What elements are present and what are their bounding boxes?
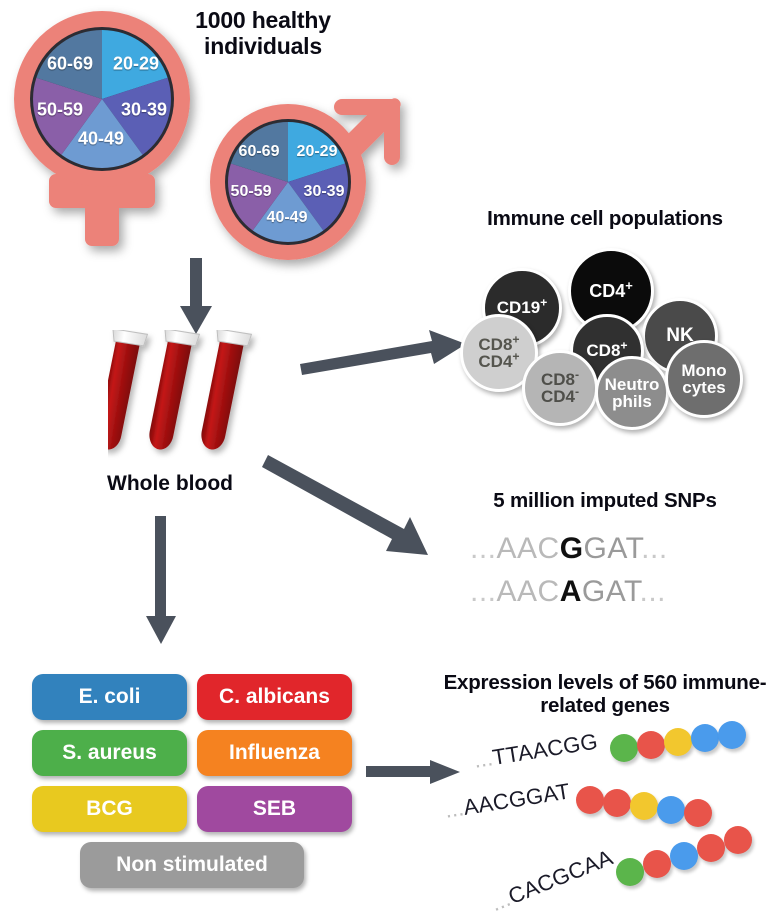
cell-label-line: CD4- <box>541 388 579 405</box>
snp-allele-g: ...AACGGAT... <box>470 528 770 571</box>
page-title-cohort: 1000 healthy individuals <box>158 8 368 60</box>
strand-3-bead <box>724 826 752 854</box>
male-age-pie <box>228 122 348 242</box>
cell-cd8-cd4-double-negative: CD8-CD4- <box>522 350 598 426</box>
strand-2-sequence: ...AACGGAT <box>443 778 572 823</box>
arrow-blood-to-snps <box>268 455 448 565</box>
strand-3-bead <box>643 850 671 878</box>
snp-segment: ... <box>470 532 497 565</box>
strand-bases: TTAACGG <box>491 729 600 770</box>
snp-segment: ... <box>641 532 668 565</box>
strand-2-bead <box>576 786 604 814</box>
strand-1-bead <box>664 728 692 756</box>
snp-segment: ... <box>640 575 667 608</box>
stim-seb[interactable]: SEB <box>197 786 352 832</box>
strand-bases: CACGCAA <box>505 845 617 909</box>
blood-tube <box>146 330 199 453</box>
snp-segment: AAC <box>497 575 560 608</box>
strand-1-bead <box>637 731 665 759</box>
arrow-blood-to-stimulation <box>143 516 179 646</box>
snp-segment: AAC <box>497 532 560 565</box>
snp-segment: A <box>560 575 582 608</box>
section-title-snps: 5 million imputed SNPs <box>440 490 770 513</box>
stim-c-albicans[interactable]: C. albicans <box>197 674 352 720</box>
strand-2-bead <box>630 792 658 820</box>
cell-label-line: phils <box>605 393 660 410</box>
strand-1-bead <box>718 721 746 749</box>
cell-label-line: CD4+ <box>478 353 519 370</box>
cell-label-line: CD8- <box>541 371 579 388</box>
strand-3-bead <box>616 858 644 886</box>
male-gender-symbol: 20-29 30-39 40-49 50-59 60-69 <box>196 72 426 272</box>
cell-neutrophils: Neutrophils <box>595 356 669 430</box>
stimulation-row: S. aureusInfluenza <box>32 730 352 776</box>
stim-bcg[interactable]: BCG <box>32 786 187 832</box>
section-title-immune-cells: Immune cell populations <box>440 208 770 231</box>
stimulation-row: Non stimulated <box>32 842 352 888</box>
snp-sequence-block: ...AACGGAT......AACAGAT... <box>470 528 770 613</box>
label-whole-blood: Whole blood <box>60 472 280 496</box>
arrow-blood-to-immune <box>300 330 468 372</box>
strand-2-bead <box>603 789 631 817</box>
strand-1-bead <box>691 724 719 752</box>
blood-tube <box>108 330 148 453</box>
stim-s-aureus[interactable]: S. aureus <box>32 730 187 776</box>
strand-1-sequence: ...TTAACGG <box>472 729 600 774</box>
strand-3-bead <box>697 834 725 862</box>
snp-allele-a: ...AACAGAT... <box>470 571 770 614</box>
strand-3-bead <box>670 842 698 870</box>
strand-2-bead <box>657 796 685 824</box>
arrow-cohort-to-blood <box>178 258 214 336</box>
stimulation-row: E. coliC. albicans <box>32 674 352 720</box>
stimulation-conditions-grid: E. coliC. albicansS. aureusInfluenzaBCGS… <box>32 674 352 898</box>
strand-1-bead <box>610 734 638 762</box>
cell-label-line: cytes <box>681 379 726 396</box>
expression-strands-block: ...TTAACGG...AACGGAT...CACGCAA <box>440 700 771 922</box>
snp-segment: G <box>560 532 584 565</box>
snp-segment: GAT <box>584 532 642 565</box>
figure-canvas: 20-29 30-39 40-49 50-59 60-69 <box>0 0 771 922</box>
immune-cell-cluster: CD19+CD4+NKCD8+CD8+CD4+CD8-CD4-Neutrophi… <box>460 238 760 418</box>
female-age-pie <box>33 30 171 168</box>
stimulation-row: BCGSEB <box>32 786 352 832</box>
stim-non-stimulated[interactable]: Non stimulated <box>80 842 304 888</box>
strand-3-sequence: ...CACGCAA <box>487 845 616 917</box>
cell-monocytes: Monocytes <box>665 340 743 418</box>
snp-segment: GAT <box>582 575 640 608</box>
cell-label-line: Mono <box>681 362 726 379</box>
strand-2-bead <box>684 799 712 827</box>
cell-label-line: CD4+ <box>589 282 633 300</box>
stim-e-coli[interactable]: E. coli <box>32 674 187 720</box>
strand-bases: AACGGAT <box>462 778 572 819</box>
stim-influenza[interactable]: Influenza <box>197 730 352 776</box>
blood-tube <box>198 330 251 453</box>
snp-segment: ... <box>470 575 497 608</box>
cell-label-line: Neutro <box>605 376 660 393</box>
blood-tubes-group <box>108 330 288 470</box>
